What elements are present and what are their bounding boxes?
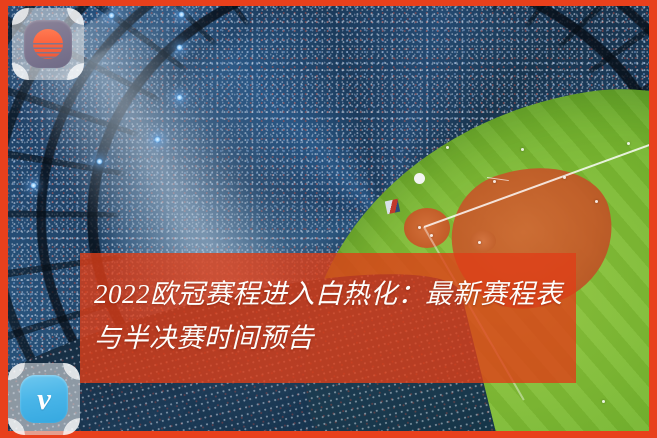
- player-dot: [430, 234, 433, 237]
- player-dot: [418, 226, 421, 229]
- player-dot: [563, 176, 566, 179]
- home-plate-circle: [404, 208, 450, 248]
- player-dot: [627, 142, 630, 145]
- vimeo-v-glyph: v: [37, 383, 51, 414]
- vimeo-icon-tile: v: [20, 375, 68, 423]
- sunset-icon[interactable]: [12, 8, 84, 80]
- frame-border-left: [0, 0, 8, 438]
- player-dot: [493, 180, 496, 183]
- frame-border-top: [0, 0, 657, 6]
- vimeo-icon[interactable]: v: [8, 363, 80, 435]
- sunset-icon-tile: [24, 20, 72, 68]
- frame-border-right: [649, 0, 657, 438]
- frame-border-bottom: [0, 431, 657, 438]
- screenshot-canvas: 2022欧冠赛程进入白热化：最新赛程表与半决赛时间预告 v: [0, 0, 657, 438]
- player-dot: [602, 400, 605, 403]
- player-dot: [478, 241, 481, 244]
- title-overlay-band: 2022欧冠赛程进入白热化：最新赛程表与半决赛时间预告: [80, 253, 576, 383]
- player-dot: [521, 148, 524, 151]
- player-dot: [446, 146, 449, 149]
- pitchers-mound: [470, 230, 496, 252]
- field-marker: [414, 173, 425, 184]
- field-flag: [385, 199, 400, 214]
- page-title: 2022欧冠赛程进入白热化：最新赛程表与半决赛时间预告: [94, 273, 564, 360]
- player-dot: [595, 200, 598, 203]
- sun-stripes: [33, 29, 63, 59]
